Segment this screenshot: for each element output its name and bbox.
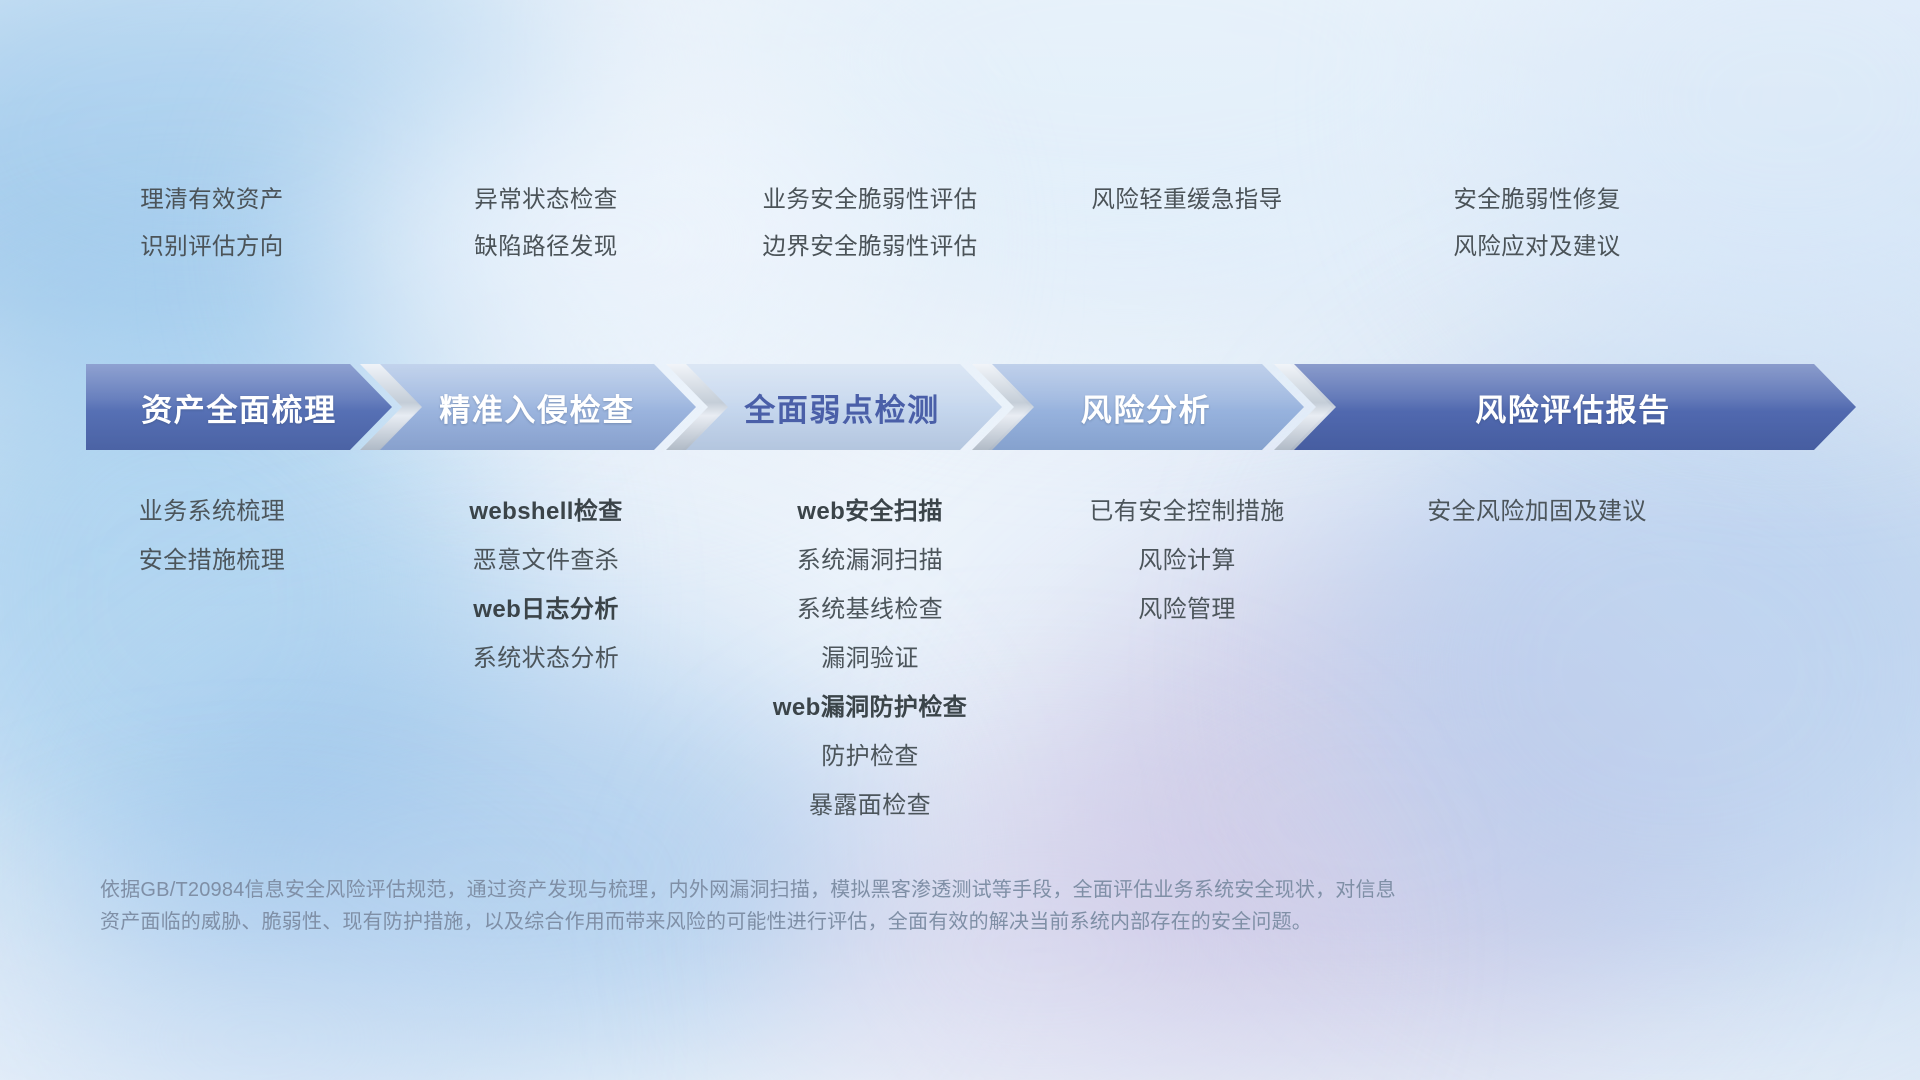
bottom-note: 防护检查 [696,745,1044,769]
bottom-note-strong: web日志分析 [473,596,618,623]
bottom-notes-stage-5: 安全风险加固及建议 [1330,500,1744,818]
chevron-stage-2[interactable]: 精准入侵检查 [378,364,696,450]
top-notes-stage-3: 业务安全脆弱性评估 边界安全脆弱性评估 [696,188,1044,258]
chevron-label: 精准入侵检查 [439,385,635,430]
bottom-note: 恶意文件查杀 [396,549,696,573]
top-note: 风险轻重缓急指导 [1044,188,1330,212]
bottom-note: 漏洞验证 [696,647,1044,671]
footer-line: 依据GB/T20984信息安全风险评估规范，通过资产发现与梳理，内外网漏洞扫描，… [100,875,1630,906]
top-notes-stage-4: 风险轻重缓急指导 [1044,188,1330,258]
bottom-note: 已有安全控制措施 [1044,500,1330,524]
top-note: 边界安全脆弱性评估 [696,235,1044,259]
bottom-note: 风险计算 [1044,549,1330,573]
bottom-note: web安全扫描 [696,500,1044,524]
bottom-note: web日志分析 [396,598,696,622]
footer-line: 资产面临的威胁、脆弱性、现有防护措施，以及综合作用而带来风险的可能性进行评估，全… [100,907,1630,938]
chevron-stage-1[interactable]: 资产全面梳理 [86,364,392,450]
bottom-note: 暴露面检查 [696,794,1044,818]
bottom-notes-area: 业务系统梳理 安全措施梳理 webshell检查 恶意文件查杀 web日志分析 … [0,500,1920,818]
bottom-note: 安全措施梳理 [28,549,396,573]
bottom-note: 系统基线检查 [696,598,1044,622]
top-note: 安全脆弱性修复 [1330,188,1744,212]
bottom-notes-stage-1: 业务系统梳理 安全措施梳理 [28,500,396,818]
bottom-note: webshell检查 [396,500,696,524]
chevron-stage-5[interactable]: 风险评估报告 [1290,364,1856,450]
bottom-note: 系统漏洞扫描 [696,549,1044,573]
chevron-stage-3[interactable]: 全面弱点检测 [682,364,1002,450]
footer-description: 依据GB/T20984信息安全风险评估规范，通过资产发现与梳理，内外网漏洞扫描，… [100,875,1630,938]
top-note: 业务安全脆弱性评估 [696,188,1044,212]
infographic-canvas: 理清有效资产 识别评估方向 异常状态检查 缺陷路径发现 业务安全脆弱性评估 边界… [0,0,1920,1080]
bottom-notes-stage-4: 已有安全控制措施 风险计算 风险管理 [1044,500,1330,818]
chevron-label: 风险分析 [1081,385,1211,430]
bottom-note-strong: web漏洞防护检查 [773,694,967,721]
top-note: 缺陷路径发现 [396,235,696,259]
top-notes-stage-2: 异常状态检查 缺陷路径发现 [396,188,696,258]
chevron-label: 全面弱点检测 [744,385,940,430]
chevron-stage-4[interactable]: 风险分析 [988,364,1304,450]
top-note: 理清有效资产 [28,188,396,212]
bottom-note: web漏洞防护检查 [696,696,1044,720]
bottom-note: 业务系统梳理 [28,500,396,524]
chevron-label: 资产全面梳理 [141,385,337,430]
bottom-note-strong: webshell检查 [469,498,622,525]
top-notes-stage-1: 理清有效资产 识别评估方向 [28,188,396,258]
bottom-note: 系统状态分析 [396,647,696,671]
top-notes-area: 理清有效资产 识别评估方向 异常状态检查 缺陷路径发现 业务安全脆弱性评估 边界… [0,188,1920,298]
top-note: 风险应对及建议 [1330,235,1744,259]
process-chevron-band: 资产全面梳理 精准入侵检查 全面弱点检测 风险分析 风险评估报告 [0,364,1920,450]
top-note: 异常状态检查 [396,188,696,212]
top-notes-stage-5: 安全脆弱性修复 风险应对及建议 [1330,188,1744,258]
bottom-note: 安全风险加固及建议 [1330,500,1744,524]
top-note: 识别评估方向 [28,235,396,259]
bottom-notes-stage-3: web安全扫描 系统漏洞扫描 系统基线检查 漏洞验证 web漏洞防护检查 防护检… [696,500,1044,818]
bottom-note-strong: web安全扫描 [797,498,942,525]
bottom-notes-stage-2: webshell检查 恶意文件查杀 web日志分析 系统状态分析 [396,500,696,818]
chevron-label: 风险评估报告 [1475,385,1671,430]
bottom-note: 风险管理 [1044,598,1330,622]
